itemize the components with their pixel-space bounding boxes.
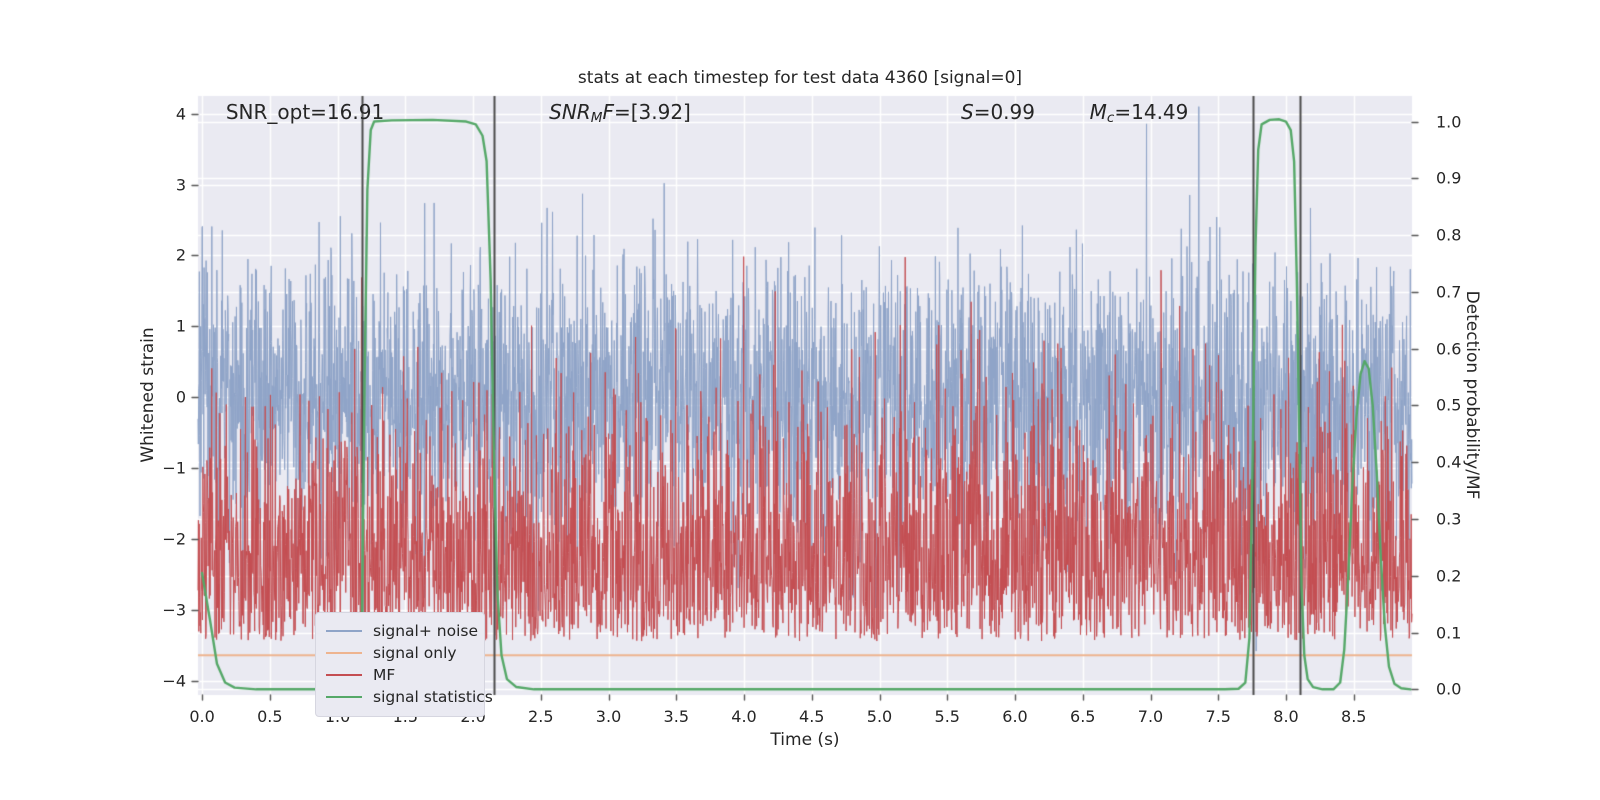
y-tick-label-right: 0.3 [1436, 509, 1461, 528]
y-tick-label-left: −1 [162, 459, 186, 478]
x-tick-label: 8.5 [1341, 707, 1366, 726]
legend-label: signal statistics [373, 688, 493, 706]
annotation-s-stat: S=0.99 [961, 100, 1035, 124]
annotation-snr-mf: SNRMF=[3.92] [549, 100, 691, 126]
y-tick-label-left: 3 [162, 175, 186, 194]
y-axis-label-left: Whitened strain [138, 327, 158, 462]
y-tick-label-left: 4 [162, 104, 186, 123]
x-tick-label: 6.5 [1070, 707, 1095, 726]
legend-swatch-icon [326, 674, 362, 676]
x-axis-label: Time (s) [770, 730, 839, 750]
x-tick-label: 3.5 [664, 707, 689, 726]
y-tick-label-right: 0.9 [1436, 169, 1461, 188]
y-tick-label-right: 0.0 [1436, 680, 1461, 699]
annotation-mc: Mc=14.49 [1090, 100, 1189, 126]
y-tick-label-left: −2 [162, 530, 186, 549]
y-tick-label-left: 2 [162, 246, 186, 265]
x-tick-label: 3.0 [596, 707, 621, 726]
legend-item: MF [326, 664, 472, 686]
x-tick-label: 2.5 [528, 707, 553, 726]
y-tick-label-left: 1 [162, 317, 186, 336]
x-tick-label: 6.0 [1002, 707, 1027, 726]
y-tick-label-right: 0.2 [1436, 566, 1461, 585]
y-tick-label-right: 0.4 [1436, 453, 1461, 472]
y-tick-label-right: 0.7 [1436, 282, 1461, 301]
legend-label: signal only [373, 644, 457, 662]
x-tick-label: 4.0 [731, 707, 756, 726]
y-tick-label-right: 0.8 [1436, 226, 1461, 245]
legend: signal+ noisesignal onlyMFsignal statist… [315, 612, 485, 717]
y-tick-label-left: 0 [162, 388, 186, 407]
y-tick-label-right: 0.6 [1436, 339, 1461, 358]
annotation-snr-opt: SNR_opt=16.91 [226, 100, 384, 124]
x-tick-label: 5.0 [867, 707, 892, 726]
x-tick-label: 5.5 [935, 707, 960, 726]
legend-swatch-icon [326, 652, 362, 654]
legend-item: signal only [326, 642, 472, 664]
legend-label: MF [373, 666, 395, 684]
legend-item: signal+ noise [326, 620, 472, 642]
y-tick-label-left: −4 [162, 671, 186, 690]
legend-swatch-icon [326, 696, 362, 698]
y-tick-label-left: −3 [162, 600, 186, 619]
x-tick-label: 0.0 [189, 707, 214, 726]
y-tick-label-right: 0.5 [1436, 396, 1461, 415]
x-tick-label: 7.0 [1138, 707, 1163, 726]
x-tick-label: 0.5 [257, 707, 282, 726]
y-axis-label-right: Detection probability/MF [1462, 291, 1482, 500]
x-tick-label: 7.5 [1206, 707, 1231, 726]
y-tick-label-right: 1.0 [1436, 112, 1461, 131]
y-tick-label-right: 0.1 [1436, 623, 1461, 642]
legend-swatch-icon [326, 630, 362, 632]
x-tick-label: 4.5 [799, 707, 824, 726]
legend-label: signal+ noise [373, 622, 478, 640]
legend-item: signal statistics [326, 686, 472, 708]
x-tick-label: 8.0 [1273, 707, 1298, 726]
figure-root: stats at each timestep for test data 436… [0, 0, 1600, 800]
chart-title: stats at each timestep for test data 436… [578, 68, 1022, 88]
